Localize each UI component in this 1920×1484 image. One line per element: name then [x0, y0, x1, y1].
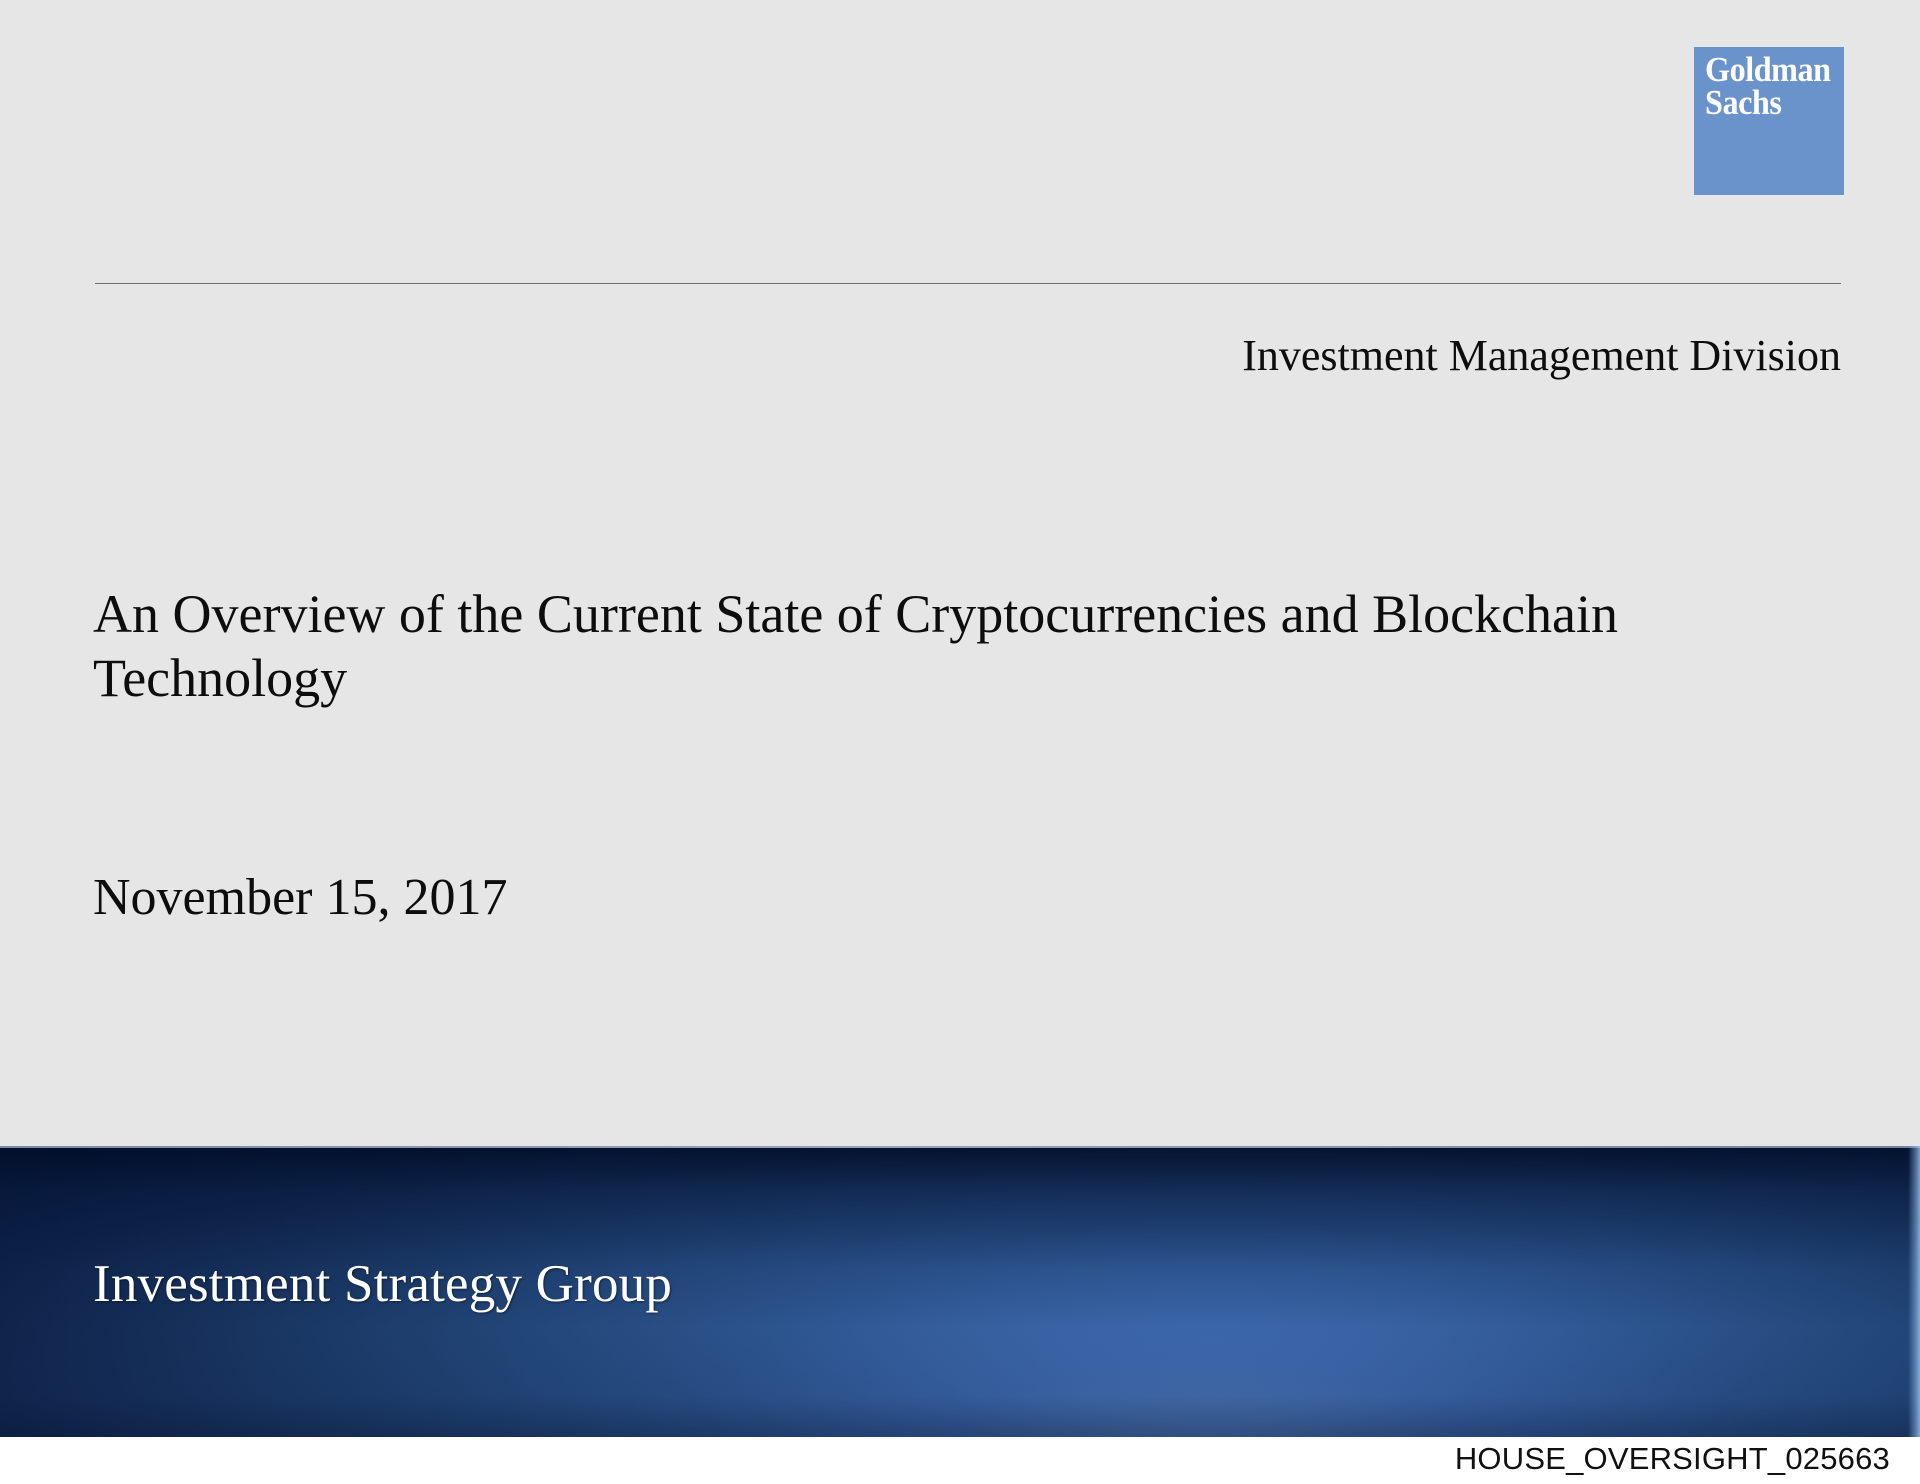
presentation-date: November 15, 2017 — [93, 868, 993, 928]
title-slide: Goldman Sachs Investment Management Divi… — [0, 0, 1920, 1484]
group-name: Investment Strategy Group — [93, 1255, 672, 1313]
banner-top-highlight — [0, 1146, 1920, 1148]
banner-right-edge-glow — [1908, 1146, 1920, 1437]
upper-panel — [0, 0, 1920, 1146]
page-title: An Overview of the Current State of Cryp… — [93, 583, 1743, 710]
header-divider — [95, 283, 1841, 284]
goldman-sachs-logo-text: Goldman Sachs — [1705, 53, 1826, 120]
division-label: Investment Management Division — [95, 332, 1841, 380]
bates-stamp: HOUSE_OVERSIGHT_025663 — [1455, 1443, 1890, 1474]
goldman-sachs-logo: Goldman Sachs — [1694, 47, 1844, 195]
